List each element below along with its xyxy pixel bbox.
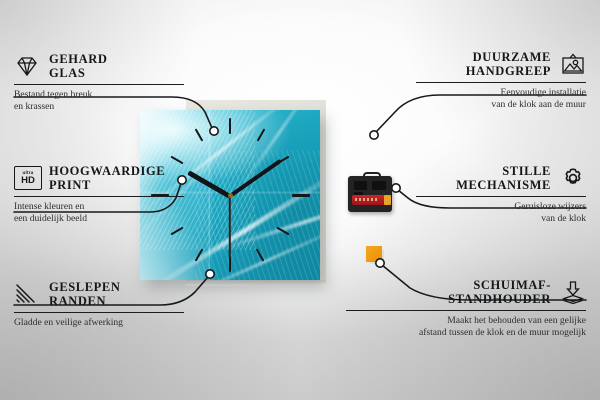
foam-spacer-pad (366, 246, 382, 262)
ultra-hd-icon: ultra HD (14, 166, 40, 190)
feature-divider (416, 82, 586, 83)
feature-gehard-glas[interactable]: GEHARD GLAS Bestand tegen breuk en krass… (14, 52, 184, 112)
hour-tick-3 (292, 194, 310, 197)
feature-heading-row: STILLE MECHANISME (416, 164, 586, 192)
feature-title-line1: STILLE (502, 164, 551, 178)
feature-title-line1: HOOGWAARDIGE (49, 164, 165, 178)
wall-panel-edge (186, 280, 326, 286)
feature-description: Bestand tegen breuk en krassen (14, 89, 184, 112)
feature-divider (416, 196, 586, 197)
feature-description: Eenvoudige installatie van de klok aan d… (416, 87, 586, 110)
feature-hoogwaardige-print[interactable]: ultra HD HOOGWAARDIGE PRINT Intense kleu… (14, 164, 184, 224)
feature-title-line2: GLAS (49, 66, 85, 80)
feature-title: DUURZAME HANDGREEP (466, 50, 551, 78)
feature-heading-row: GEHARD GLAS (14, 52, 184, 80)
feature-title-line2: MECHANISME (456, 178, 551, 192)
feature-description: Gladde en veilige afwerking (14, 317, 184, 329)
feature-heading-row: GESLEPEN RANDEN (14, 280, 184, 308)
hatched-edge-icon (14, 282, 40, 306)
spacer-pad-icon (560, 280, 586, 304)
feature-title-line2: PRINT (49, 178, 91, 192)
feature-title: STILLE MECHANISME (456, 164, 551, 192)
feature-title: HOOGWAARDIGE PRINT (49, 164, 165, 192)
infographic-canvas: GEHARD GLAS Bestand tegen breuk en krass… (0, 0, 600, 400)
feature-description: Maakt het behouden van een gelijke afsta… (346, 315, 586, 338)
clock-mechanism (348, 172, 392, 212)
feature-title-line2: RANDEN (49, 294, 106, 308)
feature-title: GESLEPEN RANDEN (49, 280, 121, 308)
hour-tick-12 (229, 118, 231, 134)
feature-heading-row: DUURZAME HANDGREEP (416, 50, 586, 78)
feature-description: Intense kleuren en een duidelijk beeld (14, 201, 184, 224)
feature-title-line1: GESLEPEN (49, 280, 121, 294)
feature-schuimafstandhouder[interactable]: SCHUIMAF- STANDHOUDER Maakt het behouden… (346, 278, 586, 338)
battery-positive-terminal (384, 195, 391, 205)
feature-description: Geruisloze wijzers van de klok (416, 201, 586, 224)
picture-frame-icon (560, 52, 586, 76)
second-hand (229, 196, 231, 258)
feature-title-line2: HANDGREEP (466, 64, 551, 78)
mechanism-detail (372, 181, 386, 190)
feature-heading-row: ultra HD HOOGWAARDIGE PRINT (14, 164, 184, 192)
battery-label (355, 198, 377, 201)
feature-title: GEHARD GLAS (49, 52, 107, 80)
gear-icon (560, 166, 586, 190)
feature-stille-mechanisme[interactable]: STILLE MECHANISME Geruisloze wijzers van… (416, 164, 586, 224)
feature-divider (14, 84, 184, 85)
hour-tick-6 (229, 256, 231, 272)
feature-title-line2: STANDHOUDER (448, 292, 551, 306)
ultra-hd-large-text: HD (21, 176, 35, 186)
feature-divider (346, 310, 586, 311)
feature-duurzame-handgreep[interactable]: DUURZAME HANDGREEP Eenvoudige installati… (416, 50, 586, 110)
feature-title-line1: DUURZAME (473, 50, 551, 64)
feature-title: SCHUIMAF- STANDHOUDER (448, 278, 551, 306)
feature-geslepen-randen[interactable]: GESLEPEN RANDEN Gladde en veilige afwerk… (14, 280, 184, 329)
feature-divider (14, 196, 184, 197)
diamond-icon (14, 54, 40, 78)
feature-title-line1: SCHUIMAF- (473, 278, 551, 292)
feature-heading-row: SCHUIMAF- STANDHOUDER (346, 278, 586, 306)
feature-title-line1: GEHARD (49, 52, 107, 66)
mechanism-detail (354, 181, 367, 190)
clock-center-pin (228, 193, 233, 198)
feature-divider (14, 312, 184, 313)
